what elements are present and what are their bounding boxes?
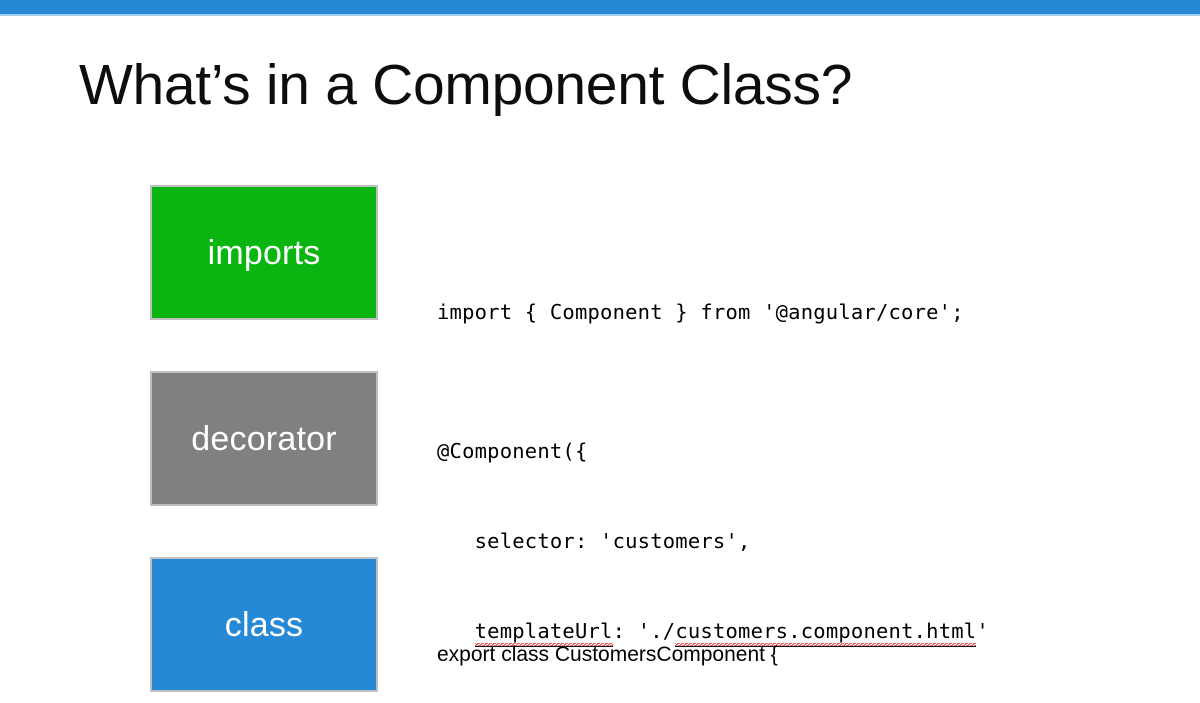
code-block-class: export class CustomersComponent { } [437,580,778,703]
slide-canvas: What’s in a Component Class? imports imp… [0,0,1200,703]
label-box-decorator: decorator [150,371,378,506]
code-line: @Component({ [437,436,989,466]
label-box-imports-text: imports [208,236,321,270]
top-accent-bar-edge [0,14,1200,16]
code-block-imports: import { Component } from '@angular/core… [437,237,964,387]
label-box-class-text: class [225,608,303,642]
top-accent-bar [0,0,1200,14]
label-box-imports: imports [150,185,378,320]
label-box-class: class [150,557,378,692]
code-line: export class CustomersComponent { [437,640,778,670]
code-quote: ' [976,619,989,643]
page-title: What’s in a Component Class? [79,54,852,118]
code-line: import { Component } from '@angular/core… [437,297,964,327]
code-line: selector: 'customers', [437,526,989,556]
label-box-decorator-text: decorator [191,422,336,456]
